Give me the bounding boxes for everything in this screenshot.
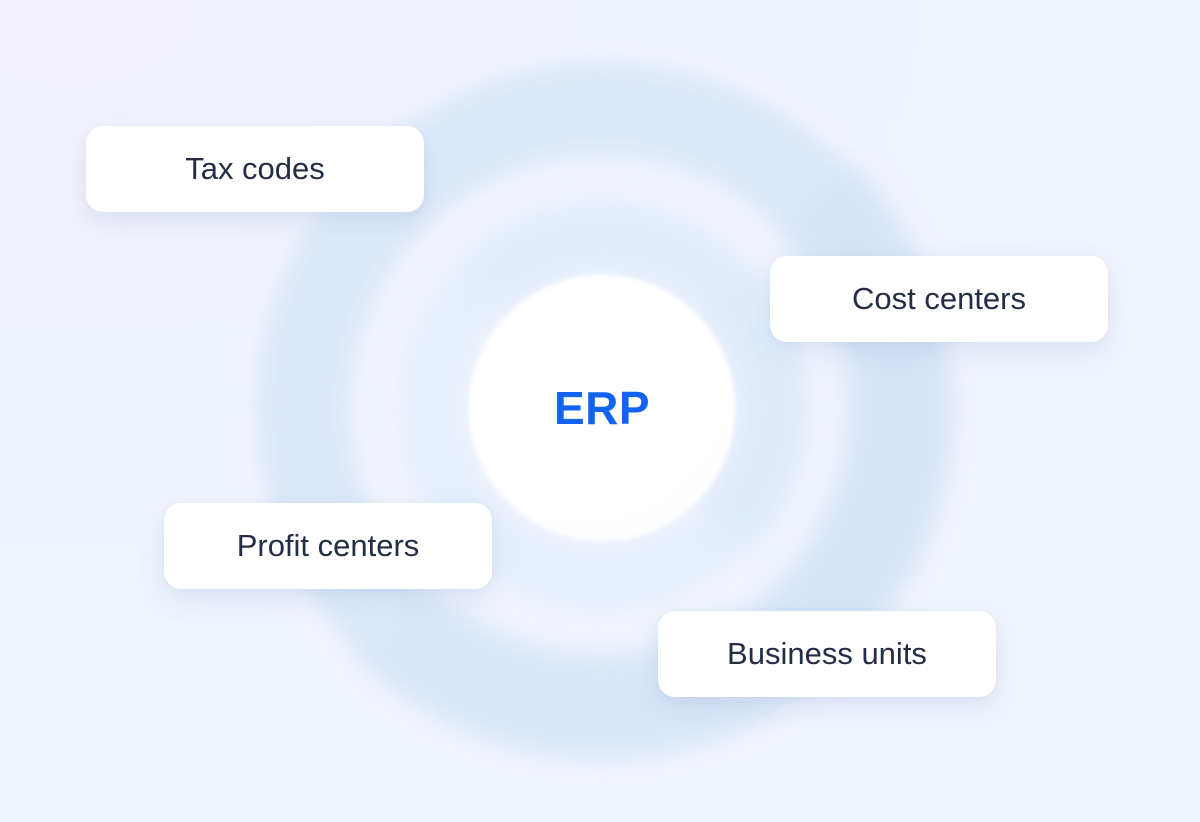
node-card-tax-codes[interactable]: Tax codes [86,126,424,212]
node-card-business-units[interactable]: Business units [658,611,996,697]
node-card-business-units-label: Business units [727,636,927,672]
erp-diagram-canvas: ERP Tax codes Cost centers Profit center… [0,0,1200,822]
node-card-tax-codes-label: Tax codes [185,151,325,187]
node-card-cost-centers-label: Cost centers [852,281,1026,317]
center-label-erp: ERP [469,275,735,541]
node-card-profit-centers[interactable]: Profit centers [164,503,492,589]
node-card-cost-centers[interactable]: Cost centers [770,256,1108,342]
node-card-profit-centers-label: Profit centers [237,528,420,564]
